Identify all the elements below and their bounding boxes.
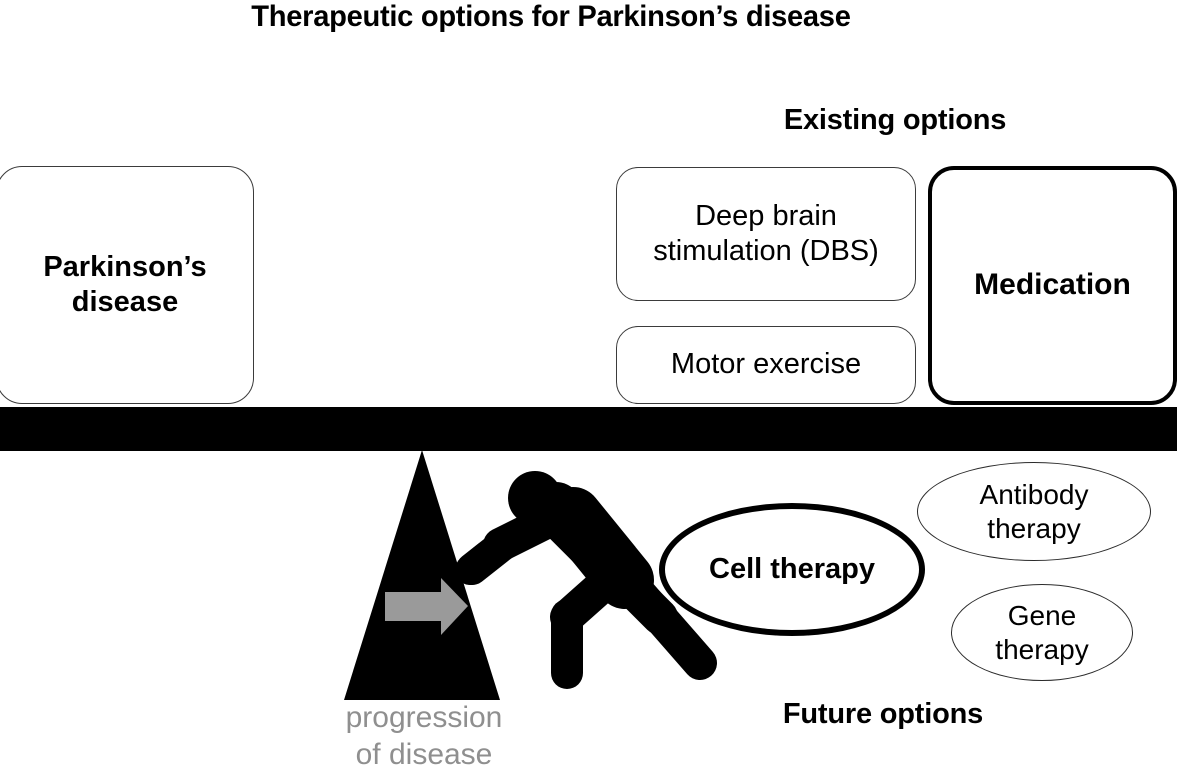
ellipse-gene-therapy: Gene therapy (951, 584, 1133, 681)
ellipse-cell-therapy-label: Cell therapy (709, 552, 875, 587)
ellipse-cell-therapy: Cell therapy (659, 503, 925, 636)
parkinsons-therapeutic-options-diagram: Therapeutic options for Parkinson’s dise… (0, 0, 1180, 784)
ellipse-gene-therapy-label: Gene therapy (995, 599, 1088, 666)
ellipse-antibody-therapy-label: Antibody therapy (980, 478, 1089, 545)
ellipse-antibody-therapy: Antibody therapy (917, 462, 1151, 561)
seesaw-bar (0, 407, 1177, 451)
